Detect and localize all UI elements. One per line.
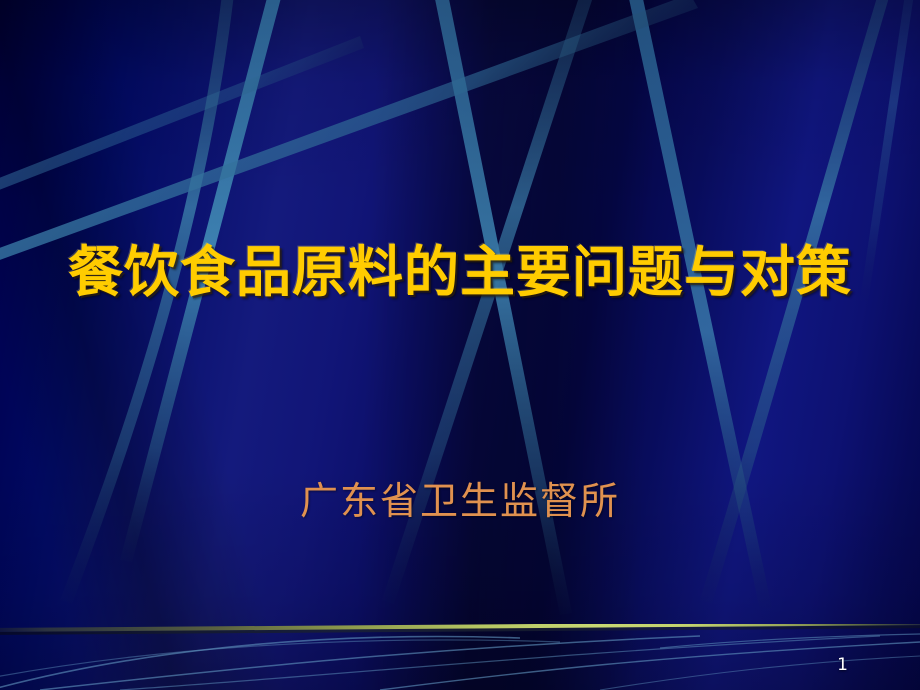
slide-subtitle: 广东省卫生监督所 [0, 480, 920, 524]
slide-title: 餐饮食品原料的主要问题与对策 [0, 244, 920, 302]
page-number: 1 [837, 655, 848, 675]
bottom-accent-divider [0, 624, 920, 638]
slide-background-vertical-shade [0, 0, 920, 690]
presentation-slide: 餐饮食品原料的主要问题与对策 广东省卫生监督所 1 [0, 0, 920, 690]
